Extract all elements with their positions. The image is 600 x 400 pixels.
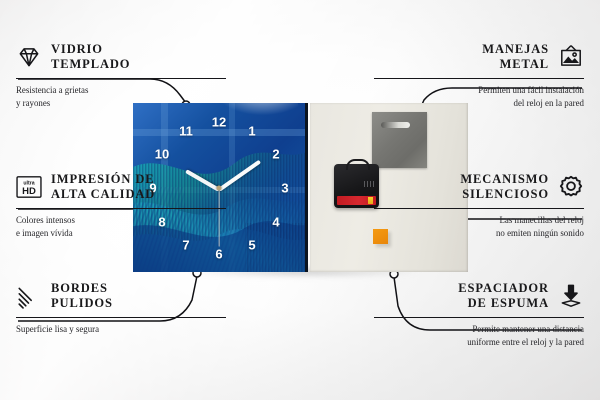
- mechanism-hanging-loop: [346, 159, 370, 170]
- clock-numeral: 10: [155, 147, 169, 162]
- clock-numeral: 12: [212, 115, 226, 130]
- mechanism-sticker: [337, 196, 376, 205]
- clock-numeral: 1: [248, 124, 255, 139]
- feature-title: ESPACIADOR DE ESPUMA: [458, 281, 549, 312]
- divider: [16, 317, 226, 319]
- feature-foam-spacer: ESPACIADOR DE ESPUMA Permite mantener un…: [374, 281, 584, 348]
- feature-description: Permite mantener una distancia uniforme …: [374, 323, 584, 348]
- clock-numeral: 7: [182, 238, 189, 253]
- infographic-canvas: 12 1 2 3 4 5 6 7 8 9 10 11: [0, 0, 600, 400]
- hanger-keyhole-slot: [381, 122, 410, 128]
- feature-silent-mechanism: MECANISMO SILENCIOSO Las manecillas del …: [374, 172, 584, 239]
- ultra-hd-icon: ultra HD: [16, 174, 42, 200]
- clock-numeral: 6: [215, 247, 222, 262]
- diamond-icon: [16, 44, 42, 70]
- polished-edges-icon: [16, 283, 42, 309]
- feature-hd-print: ultra HD IMPRESIÓN DE ALTA CALIDAD Color…: [16, 172, 226, 239]
- clock-numeral: 4: [272, 215, 279, 230]
- feature-description: Resistencia a grietas y rayones: [16, 84, 226, 109]
- picture-hanger-icon: [558, 44, 584, 70]
- gear-icon: [558, 174, 584, 200]
- divider: [16, 78, 226, 80]
- feature-title: MECANISMO SILENCIOSO: [460, 172, 549, 203]
- clock-numeral: 5: [248, 238, 255, 253]
- feature-description: Permiten una fácil instalación del reloj…: [374, 84, 584, 109]
- feature-metal-hangers: MANEJAS METAL Permiten una fácil instala…: [374, 42, 584, 109]
- feature-title: MANEJAS METAL: [482, 42, 549, 73]
- feature-title: VIDRIO TEMPLADO: [51, 42, 130, 73]
- feature-description: Colores intensos e imagen vívida: [16, 214, 226, 239]
- clock-numeral: 2: [272, 147, 279, 162]
- divider: [16, 208, 226, 210]
- divider: [374, 317, 584, 319]
- clock-numeral: 3: [281, 181, 288, 196]
- feature-description: Las manecillas del reloj no emiten ningú…: [374, 214, 584, 239]
- feature-title: BORDES PULIDOS: [51, 281, 113, 312]
- feature-tempered-glass: VIDRIO TEMPLADO Resistencia a grietas y …: [16, 42, 226, 109]
- feature-description: Superficie lisa y segura: [16, 323, 226, 336]
- feature-title: IMPRESIÓN DE ALTA CALIDAD: [51, 172, 155, 203]
- metal-hanger-plate: [372, 112, 427, 168]
- divider: [374, 78, 584, 80]
- svg-text:HD: HD: [22, 186, 36, 197]
- divider: [374, 208, 584, 210]
- clock-mechanism: [334, 164, 379, 208]
- clock-numeral: 11: [179, 124, 193, 139]
- feature-polished-edges: BORDES PULIDOS Superficie lisa y segura: [16, 281, 226, 336]
- foam-spacer-icon: [558, 283, 584, 309]
